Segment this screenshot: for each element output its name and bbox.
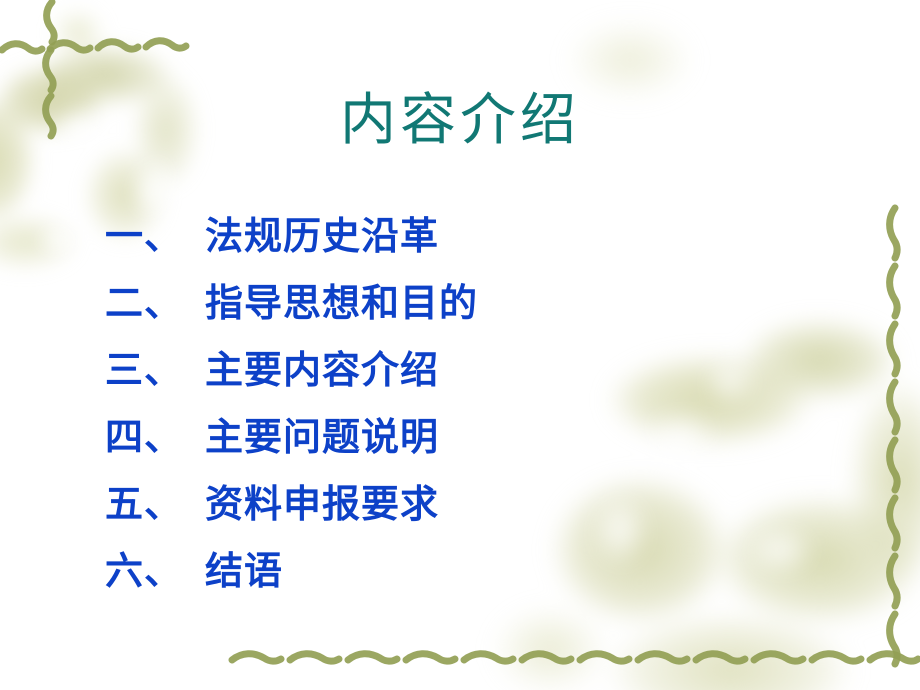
slide-title: 内容介绍 — [0, 92, 920, 151]
list-item-number: 三、 — [105, 339, 205, 394]
outline-list: 一、 法规历史沿革 二、 指导思想和目的 三、 主要内容介绍 四、 主要问题说明… — [105, 205, 805, 607]
slide-canvas: 内容介绍 一、 法规历史沿革 二、 指导思想和目的 三、 主要内容介绍 四、 主… — [0, 0, 920, 690]
list-item-label: 主要问题说明 — [205, 406, 439, 461]
list-item: 五、 资料申报要求 — [105, 473, 805, 540]
list-item-label: 主要内容介绍 — [205, 339, 439, 394]
list-item-number: 一、 — [105, 205, 205, 260]
list-item: 二、 指导思想和目的 — [105, 272, 805, 339]
bamboo-rule-right-icon — [876, 200, 914, 670]
list-item-label: 资料申报要求 — [205, 473, 439, 528]
list-item-number: 二、 — [105, 272, 205, 327]
bamboo-rule-bottom-icon — [228, 640, 920, 676]
list-item-label: 指导思想和目的 — [205, 272, 478, 327]
list-item-number: 五、 — [105, 473, 205, 528]
list-item-label: 法规历史沿革 — [205, 205, 439, 260]
list-item-number: 四、 — [105, 406, 205, 461]
list-item: 一、 法规历史沿革 — [105, 205, 805, 272]
list-item-number: 六、 — [105, 540, 205, 595]
list-item: 三、 主要内容介绍 — [105, 339, 805, 406]
list-item-label: 结语 — [205, 540, 283, 595]
list-item: 四、 主要问题说明 — [105, 406, 805, 473]
list-item: 六、 结语 — [105, 540, 805, 607]
bamboo-rule-top-icon — [0, 28, 200, 64]
